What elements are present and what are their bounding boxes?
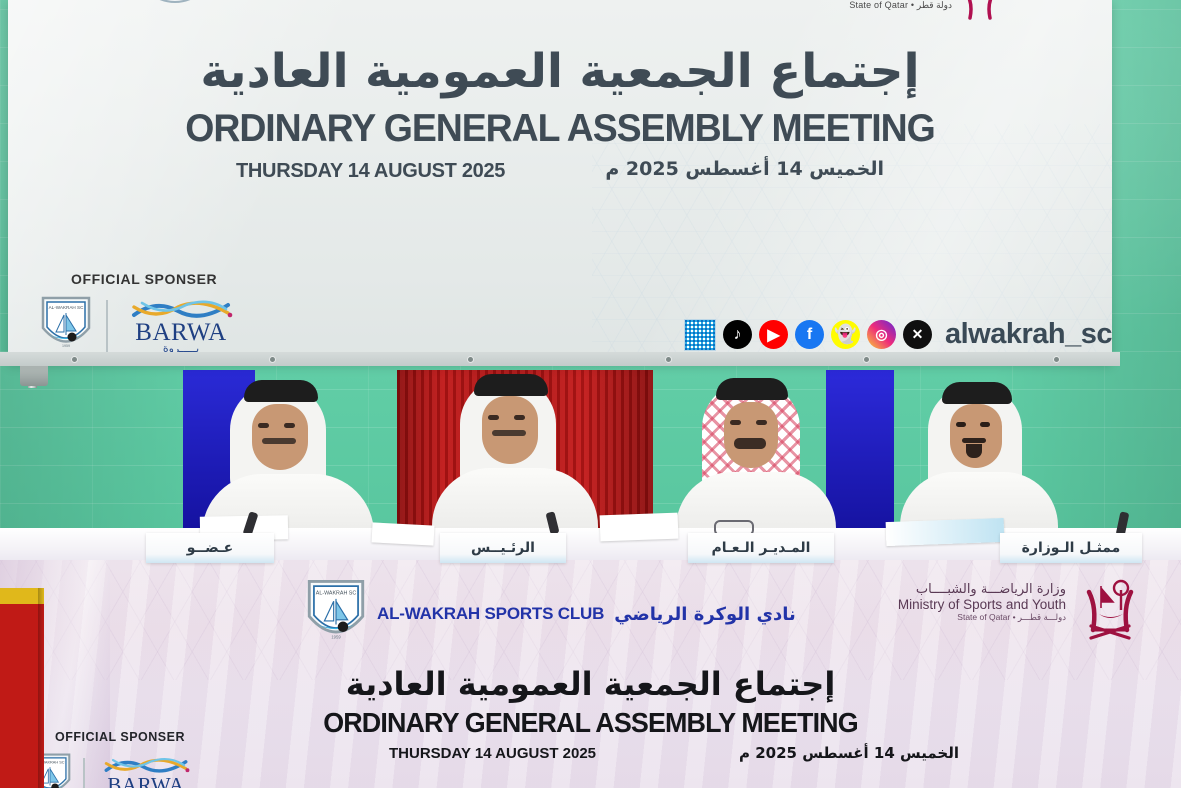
placard-member: عـضــو	[146, 533, 274, 563]
svg-text:1959: 1959	[331, 634, 341, 639]
instagram-icon[interactable]: ◎	[867, 320, 896, 349]
social-handle: alwakrah_sc	[945, 318, 1112, 351]
skirt-date-arabic: الخميس 14 أغسطس 2025 م	[739, 744, 959, 762]
official-ministry-rep	[900, 380, 1060, 532]
placard-ministry-rep: ممثـل الـوزارة	[1000, 533, 1142, 563]
sponsor-logos-row: AL-WAKRAH SC 1959 BARWA بـــــروة	[40, 295, 240, 357]
banner-date-arabic: الخميس 14 أغسطس 2025 م	[605, 158, 884, 180]
papers	[600, 513, 679, 542]
banner-title-english: ORDINARY GENERAL ASSEMBLY MEETING	[30, 107, 1090, 151]
al-wakrah-sc-crest: AL-WAKRAH SC 1959	[305, 578, 367, 650]
ministry-state-line: State of Qatar • دولـــة قطـــر	[898, 612, 1066, 623]
al-wakrah-sc-crest: AL-WAKRAH SC 1959	[40, 295, 92, 357]
banner-bottom-edge	[0, 352, 1120, 366]
placard-president-label: الرئـيــس	[471, 540, 535, 556]
skirt-title-arabic: إجتماع الجمعية العمومية العادية	[0, 665, 1181, 703]
svg-text:AL-WAKRAH SC: AL-WAKRAH SC	[49, 305, 84, 310]
barwa-logo: BARWA	[96, 755, 196, 788]
banner-title-arabic: إجتماع الجمعية العمومية العادية	[8, 44, 1112, 99]
qatar-state-emblem	[1079, 578, 1141, 640]
official-sponsor-label-bottom: OFFICIAL SPONSER	[55, 730, 185, 744]
official-sponsor-label: OFFICIAL SPONSER	[71, 271, 217, 287]
club-name-english: AL-WAKRAH SPORTS CLUB	[377, 604, 604, 624]
barwa-logo: BARWA بـــــروة	[122, 297, 240, 355]
papers	[886, 518, 1005, 546]
club-name-arabic: نادي الوكرة الرياضي	[614, 604, 796, 625]
tiktok-icon[interactable]: ♪	[723, 320, 752, 349]
banner-grommet	[864, 357, 869, 362]
sponsor-logos-row-bottom: AL-WAKRAH SC BARWA	[28, 752, 196, 788]
youtube-icon[interactable]: ▶	[759, 320, 788, 349]
top-backdrop-banner: 1959 1959 State of Qatar • دولة قطر إجتم…	[8, 0, 1112, 364]
club-branding-row: AL-WAKRAH SC 1959 AL-WAKRAH SPORTS CLUB …	[305, 578, 796, 650]
qr-code[interactable]	[684, 319, 716, 351]
facebook-icon[interactable]: f	[795, 320, 824, 349]
svg-text:1959: 1959	[62, 344, 70, 348]
placard-ministry-rep-label: ممثـل الـوزارة	[1022, 540, 1121, 556]
placard-director-general: المـديـر الـعـام	[688, 533, 834, 563]
banner-grommet	[666, 357, 671, 362]
banner-grommet	[468, 357, 473, 362]
sponsor-divider	[83, 758, 85, 788]
skirt-date-english: THURSDAY 14 AUGUST 2025	[389, 745, 596, 762]
skirt-title-english: ORDINARY GENERAL ASSEMBLY MEETING	[24, 707, 1158, 739]
snapchat-icon[interactable]: 👻	[831, 320, 860, 349]
ministry-branding: وزارة الرياضـــة والشبــــاب Ministry of…	[898, 582, 1066, 623]
banner-grommet	[72, 357, 77, 362]
photo-scene: 1959 1959 State of Qatar • دولة قطر إجتم…	[0, 0, 1181, 788]
official-president	[432, 372, 598, 532]
svg-text:AL-WAKRAH SC: AL-WAKRAH SC	[316, 590, 357, 596]
left-foreground-object	[0, 588, 44, 788]
placard-member-label: عـضــو	[187, 540, 234, 556]
ministry-name-arabic: وزارة الرياضـــة والشبــــاب	[898, 582, 1066, 597]
placard-director-general-label: المـديـر الـعـام	[712, 540, 811, 556]
ministry-name-english: Ministry of Sports and Youth	[898, 597, 1066, 612]
qatar-ministry-line-top: State of Qatar • دولة قطر	[849, 0, 952, 11]
banner-grommet	[270, 357, 275, 362]
qatar-state-emblem-top	[953, 0, 1007, 22]
barwa-wordmark: BARWA	[96, 773, 196, 788]
qatar-state-text: State of Qatar • دولة قطر	[849, 0, 952, 11]
sponsor-divider	[106, 300, 108, 352]
banner-date-english: THURSDAY 14 AUGUST 2025	[236, 160, 505, 183]
placard-president: الرئـيــس	[440, 533, 566, 563]
social-media-row: ♪ ▶ f 👻 ◎ ✕ alwakrah_sc	[684, 318, 1112, 351]
al-wakrah-sc-crest-cropped: 1959 1959	[136, 0, 214, 20]
official-director-general	[676, 376, 838, 532]
banner-grommet	[1054, 357, 1059, 362]
papers	[372, 522, 435, 545]
x-icon[interactable]: ✕	[903, 320, 932, 349]
official-member	[196, 378, 376, 533]
